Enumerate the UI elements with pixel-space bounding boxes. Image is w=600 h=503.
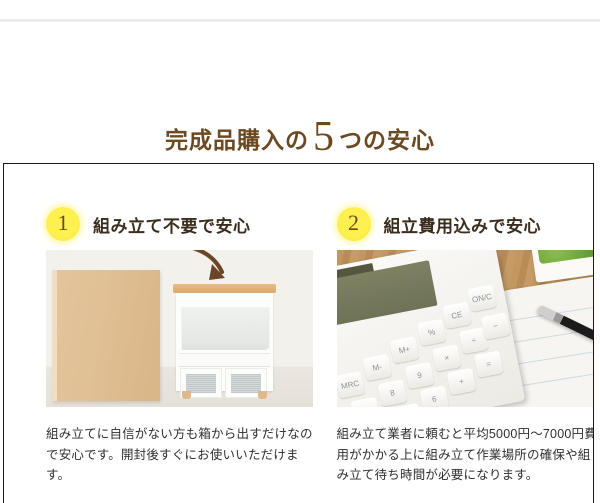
title-prefix: 完成品購入の — [165, 121, 309, 155]
feature-2-heading: 2 組立費用込みで安心 — [337, 206, 594, 242]
calculator: MRC M- M+ % CE ON/C 7 8 9 × ÷ − 4 5 — [337, 250, 525, 407]
number-badge-1: 1 — [46, 207, 80, 241]
calc-key[interactable]: M- — [362, 354, 392, 382]
title-suffix: つの安心 — [339, 121, 435, 155]
calc-key[interactable]: 6 — [419, 385, 449, 407]
cabinet-leg-left — [182, 391, 191, 399]
feature-2-body: 組み立て業者に頼むと平均5000円〜7000円費用がかかる上に組み立て作業場所の… — [337, 424, 595, 486]
curved-arrow-icon — [146, 250, 256, 292]
title-number: 5 — [309, 116, 339, 158]
cabinet-leg-right — [258, 391, 267, 399]
top-divider — [0, 19, 600, 22]
calc-key[interactable]: × — [431, 344, 461, 372]
feature-item-1: 1 組み立て不要で安心 — [4, 164, 299, 503]
number-badge-2: 2 — [337, 207, 371, 241]
feature-item-2: 2 組立費用込みで安心 — [299, 164, 594, 503]
feature-1-photo — [46, 250, 313, 407]
cabinet-body — [176, 293, 273, 391]
calc-key[interactable]: M+ — [389, 336, 419, 364]
calc-key[interactable]: 8 — [377, 379, 407, 407]
calc-key[interactable]: = — [473, 350, 503, 378]
cabinet-shelf-edge — [182, 345, 267, 350]
badge-number: 1 — [58, 212, 69, 234]
calc-key[interactable]: % — [416, 319, 446, 347]
white-cabinet — [176, 284, 273, 399]
calc-key[interactable]: 9 — [404, 362, 434, 390]
product-feature-section: 完成品購入の 5 つの安心 1 組み立て不要で安心 — [0, 0, 600, 500]
calc-key[interactable]: + — [446, 368, 476, 396]
cabinet-drawer — [179, 353, 270, 367]
cabinet-open-shelf — [181, 307, 270, 349]
calc-key[interactable]: − — [480, 312, 510, 340]
feature-1-heading: 1 組み立て不要で安心 — [46, 206, 299, 242]
calc-key[interactable]: CE — [441, 302, 471, 330]
badge-number: 2 — [348, 212, 359, 234]
calc-key[interactable]: MRC — [337, 371, 365, 399]
calc-key[interactable]: ON/C — [467, 284, 497, 312]
feature-2-title: 組立費用込みで安心 — [384, 212, 542, 237]
feature-1-title: 組み立て不要で安心 — [93, 212, 251, 237]
cardboard-box — [52, 270, 160, 401]
features-frame: 1 組み立て不要で安心 — [3, 163, 594, 503]
calc-key[interactable]: 7 — [350, 397, 380, 407]
feature-2-photo: MRC M- M+ % CE ON/C 7 8 9 × ÷ − 4 5 — [337, 250, 595, 407]
page-title: 完成品購入の 5 つの安心 — [0, 104, 600, 156]
feature-1-body: 組み立てに自信がない方も箱から出すだけなので安心です。開封後すぐにお使いいただけ… — [46, 424, 318, 486]
